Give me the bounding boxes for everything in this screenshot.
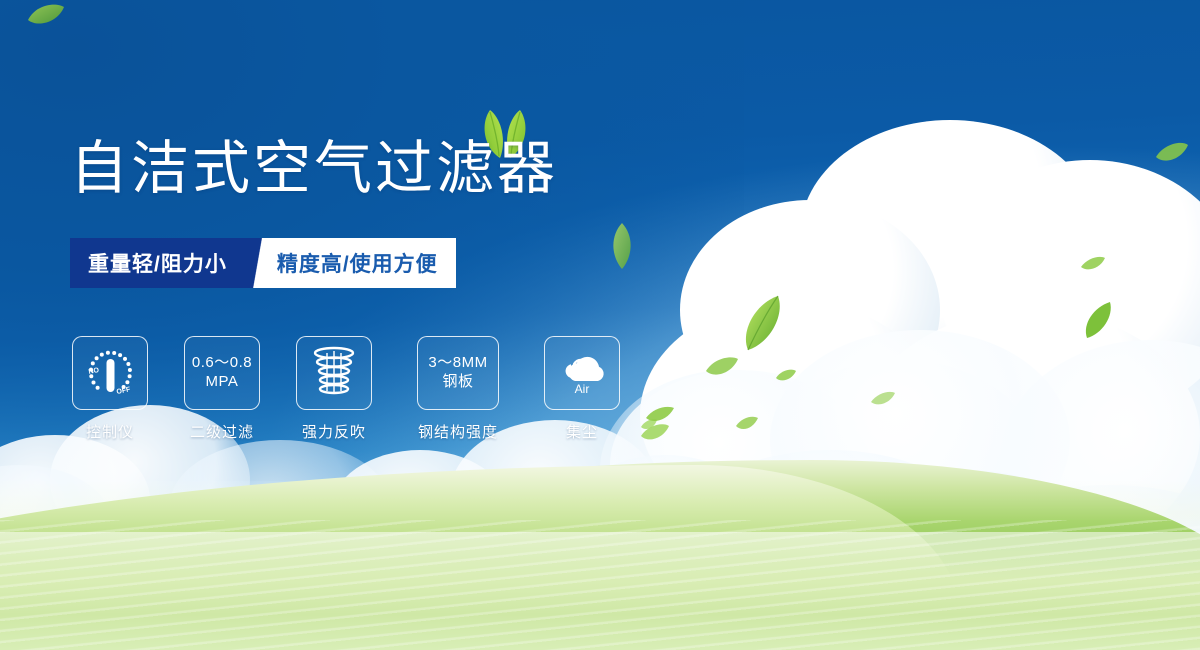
dial-off-label: OFF	[116, 386, 132, 396]
subtitle-banner: 重量轻/阻力小 精度高/使用方便	[70, 238, 456, 288]
feature-label: 集尘	[566, 421, 598, 442]
air-coil-icon	[306, 345, 362, 401]
control-dial-icon-box: NO OFF	[72, 336, 148, 410]
cloud-air-icon-box: Air	[544, 336, 620, 410]
steel-plate-text-icon-box: 3～8MM 钢板	[417, 336, 499, 410]
steel-line-1: 3～8MM	[428, 354, 487, 373]
feature-item-control[interactable]: NO OFF 控制仪	[72, 336, 148, 442]
feature-list: NO OFF 控制仪 0.6～0.8 MPA 二级过滤	[72, 336, 620, 442]
product-hero-banner: 自洁式空气过滤器 重量轻/阻力小 精度高/使用方便	[0, 0, 1200, 650]
grass-field	[0, 470, 1200, 650]
grass-streaks	[0, 520, 1200, 650]
pressure-text-icon-box: 0.6～0.8 MPA	[184, 336, 260, 410]
subtitle-right: 精度高/使用方便	[273, 238, 456, 288]
dial-on-label: NO	[88, 367, 100, 376]
feature-label: 强力反吹	[302, 421, 366, 442]
feature-label: 二级过滤	[190, 421, 254, 442]
feature-item-steel[interactable]: 3～8MM 钢板 钢结构强度	[408, 336, 508, 442]
feature-item-filter[interactable]: 0.6～0.8 MPA 二级过滤	[184, 336, 260, 442]
page-title: 自洁式空气过滤器	[70, 140, 558, 198]
control-dial-icon: NO OFF	[81, 346, 139, 400]
feature-label: 钢结构强度	[418, 421, 498, 442]
feature-item-dust[interactable]: Air 集尘	[544, 336, 620, 442]
subtitle-slant-divider	[247, 238, 273, 288]
cloud-air-icon: Air	[553, 350, 611, 396]
feature-label: 控制仪	[86, 421, 134, 442]
air-coil-icon-box	[296, 336, 372, 410]
feature-item-blowback[interactable]: 强力反吹	[296, 336, 372, 442]
cloud-air-caption: Air	[575, 382, 590, 396]
pressure-line-2: MPA	[206, 373, 239, 392]
pressure-line-1: 0.6～0.8	[192, 354, 252, 373]
steel-line-2: 钢板	[442, 373, 473, 392]
subtitle-left: 重量轻/阻力小	[70, 238, 247, 288]
